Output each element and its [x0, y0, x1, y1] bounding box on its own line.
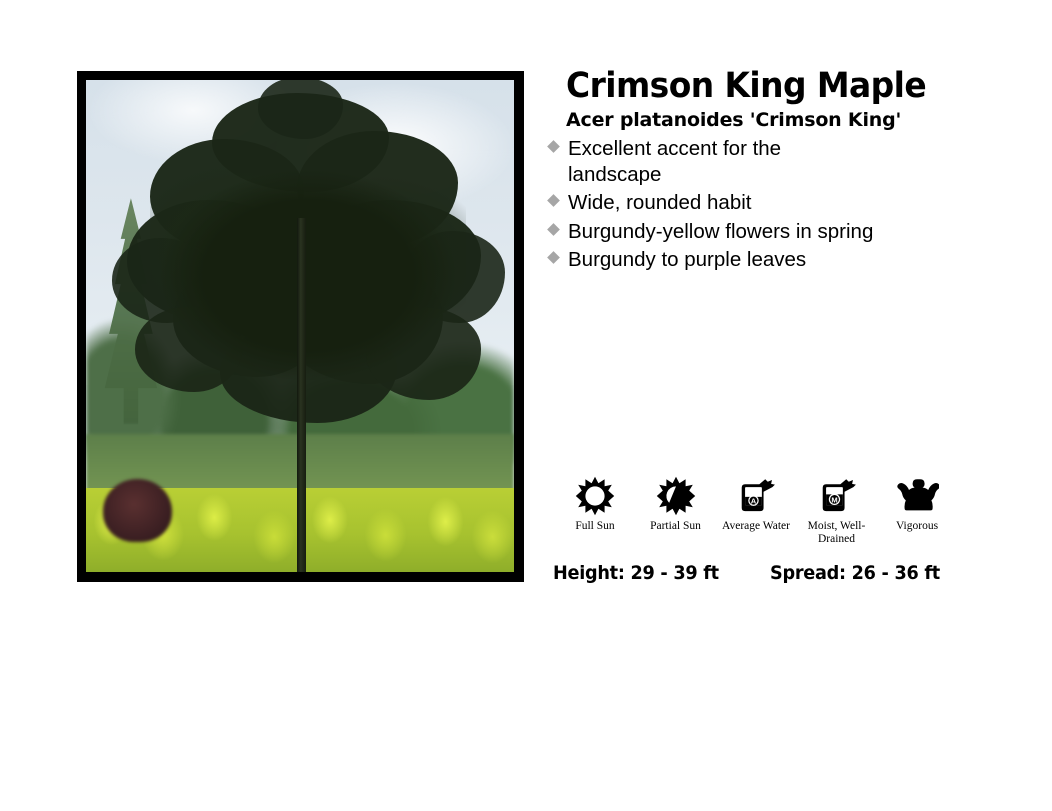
- page-title: Crimson King Maple: [566, 66, 945, 106]
- plant-photo: [86, 80, 514, 572]
- attribute-full-sun: Full Sun: [556, 474, 634, 533]
- spread-value: Spread: 26 - 36 ft: [770, 562, 940, 584]
- plant-info-panel: Crimson King Maple Acer platanoides 'Cri…: [549, 66, 969, 276]
- list-item-label: Excellent accent for the landscape: [568, 137, 781, 186]
- diamond-bullet-icon: [547, 194, 560, 207]
- attribute-label: Average Water: [717, 520, 795, 533]
- list-item-label: Burgundy-yellow flowers in spring: [568, 220, 873, 243]
- full-sun-icon: [556, 474, 634, 518]
- attribute-vigorous: Vigorous: [878, 474, 956, 533]
- attribute-partial-sun: Partial Sun: [637, 474, 715, 533]
- moist-well-drained-icon: M: [798, 474, 876, 518]
- attribute-label: Moist, Well-Drained: [798, 520, 876, 546]
- photo-foliage-mass: [150, 123, 466, 399]
- diamond-bullet-icon: [547, 140, 560, 153]
- list-item: Excellent accent for the landscape: [549, 136, 858, 187]
- attribute-icon-row: Full Sun Partial Sun A Average Water: [556, 474, 956, 546]
- list-item-label: Wide, rounded habit: [568, 191, 751, 214]
- list-item: Burgundy-yellow flowers in spring: [549, 219, 969, 245]
- list-item: Burgundy to purple leaves: [549, 247, 969, 273]
- attribute-label: Full Sun: [556, 520, 634, 533]
- attribute-average-water: A Average Water: [717, 474, 795, 533]
- diamond-bullet-icon: [547, 251, 560, 264]
- plant-photo-frame: [77, 71, 524, 582]
- feature-list: Excellent accent for the landscape Wide,…: [549, 136, 969, 273]
- height-value: Height: 29 - 39 ft: [553, 562, 755, 584]
- attribute-label: Vigorous: [878, 520, 956, 533]
- vigorous-icon: [878, 474, 956, 518]
- photo-burgundy-shrub: [103, 479, 171, 543]
- diamond-bullet-icon: [547, 223, 560, 236]
- dimensions-row: Height: 29 - 39 ft Spread: 26 - 36 ft: [553, 562, 953, 584]
- attribute-moist-well-drained: M Moist, Well-Drained: [798, 474, 876, 546]
- svg-text:A: A: [751, 497, 757, 506]
- list-item-label: Burgundy to purple leaves: [568, 248, 806, 271]
- botanical-name: Acer platanoides 'Crimson King': [566, 107, 969, 133]
- photo-tree-trunk: [297, 218, 306, 572]
- list-item: Wide, rounded habit: [549, 190, 969, 216]
- svg-text:M: M: [831, 495, 837, 504]
- partial-sun-icon: [637, 474, 715, 518]
- attribute-label: Partial Sun: [637, 520, 715, 533]
- average-water-icon: A: [717, 474, 795, 518]
